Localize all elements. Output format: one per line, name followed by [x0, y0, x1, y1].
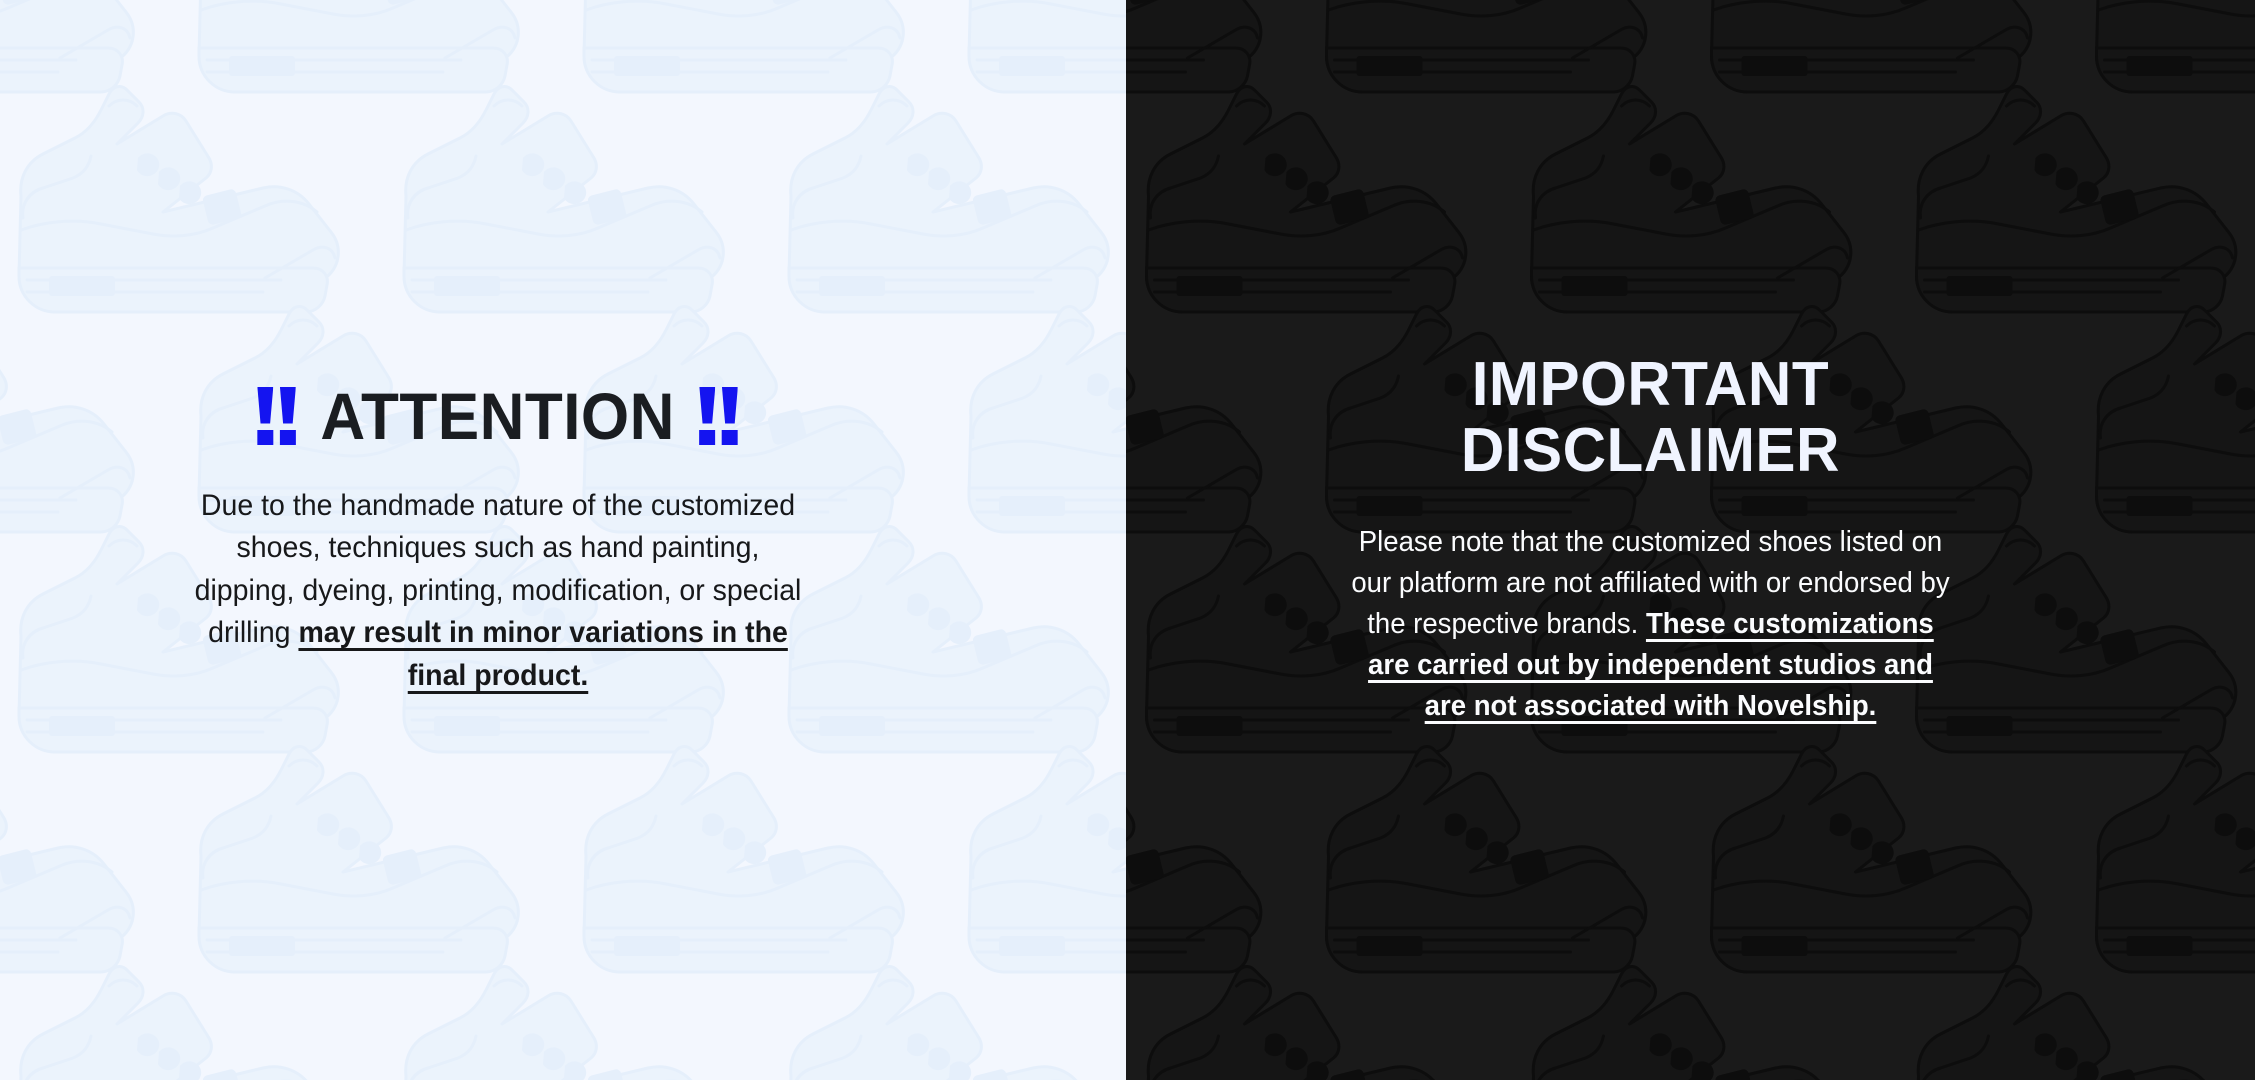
- disclaimer-heading-line-2: DISCLAIMER: [1461, 418, 1840, 484]
- attention-content: ATTENTION Due to the handmade nature of …: [0, 383, 1126, 698]
- attention-heading-text: ATTENTION: [321, 383, 676, 449]
- disclaimer-body: Please note that the customized shoes li…: [1344, 522, 1957, 728]
- disclaimer-heading: IMPORTANT DISCLAIMER: [1461, 352, 1840, 483]
- double-exclamation-mark-icon-left: [258, 387, 297, 445]
- attention-heading: ATTENTION: [258, 383, 739, 449]
- attention-body: Due to the handmade nature of the custom…: [194, 485, 802, 698]
- double-exclamation-mark-icon-right: [700, 387, 739, 445]
- disclaimer-heading-line-1: IMPORTANT: [1461, 352, 1840, 418]
- disclaimer-content: IMPORTANT DISCLAIMER Please note that th…: [1126, 352, 2255, 727]
- disclaimer-panel: IMPORTANT DISCLAIMER Please note that th…: [1126, 0, 2255, 1080]
- attention-panel: ATTENTION Due to the handmade nature of …: [0, 0, 1126, 1080]
- attention-body-emphasis: may result in minor variations in the fi…: [298, 616, 787, 692]
